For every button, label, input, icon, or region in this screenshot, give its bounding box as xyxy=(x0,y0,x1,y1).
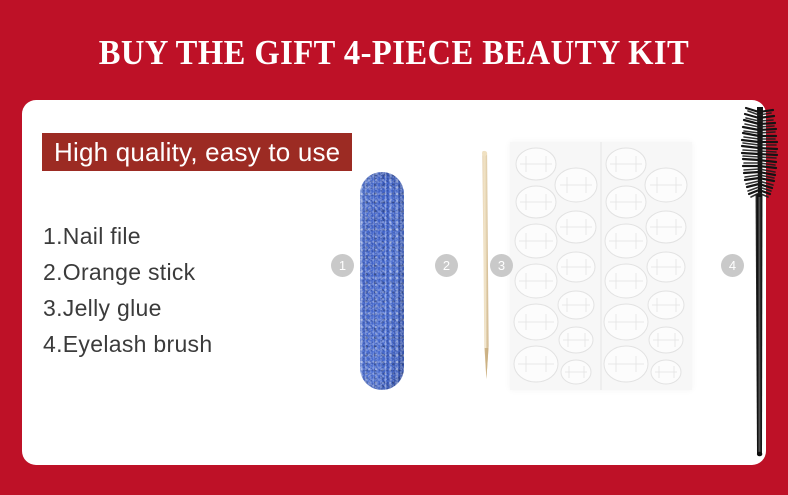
eyelash-brush-image xyxy=(722,102,782,462)
highlight-banner-label: High quality, easy to use xyxy=(54,137,340,167)
list-item: 2.Orange stick xyxy=(43,254,363,290)
callout-badge-4: 4 xyxy=(721,254,744,277)
product-card: High quality, easy to use 1.Nail file 2.… xyxy=(22,100,766,465)
nail-file-image xyxy=(360,172,404,390)
feature-list: 1.Nail file 2.Orange stick 3.Jelly glue … xyxy=(43,218,363,362)
page-title: BUY THE GIFT 4-PIECE BEAUTY KIT xyxy=(28,33,761,73)
highlight-banner: High quality, easy to use xyxy=(42,133,352,171)
jelly-glue-image xyxy=(510,142,692,390)
callout-badge-1: 1 xyxy=(331,254,354,277)
jelly-glue-svg xyxy=(510,142,692,390)
list-item: 3.Jelly glue xyxy=(43,290,363,326)
nail-file-texture xyxy=(360,172,404,390)
list-item: 4.Eyelash brush xyxy=(43,326,363,362)
callout-badge-2: 2 xyxy=(435,254,458,277)
list-item: 1.Nail file xyxy=(43,218,363,254)
callout-badge-3: 3 xyxy=(490,254,513,277)
eyelash-brush-svg xyxy=(722,102,782,462)
promo-banner-image: BUY THE GIFT 4-PIECE BEAUTY KIT High qua… xyxy=(0,0,788,495)
